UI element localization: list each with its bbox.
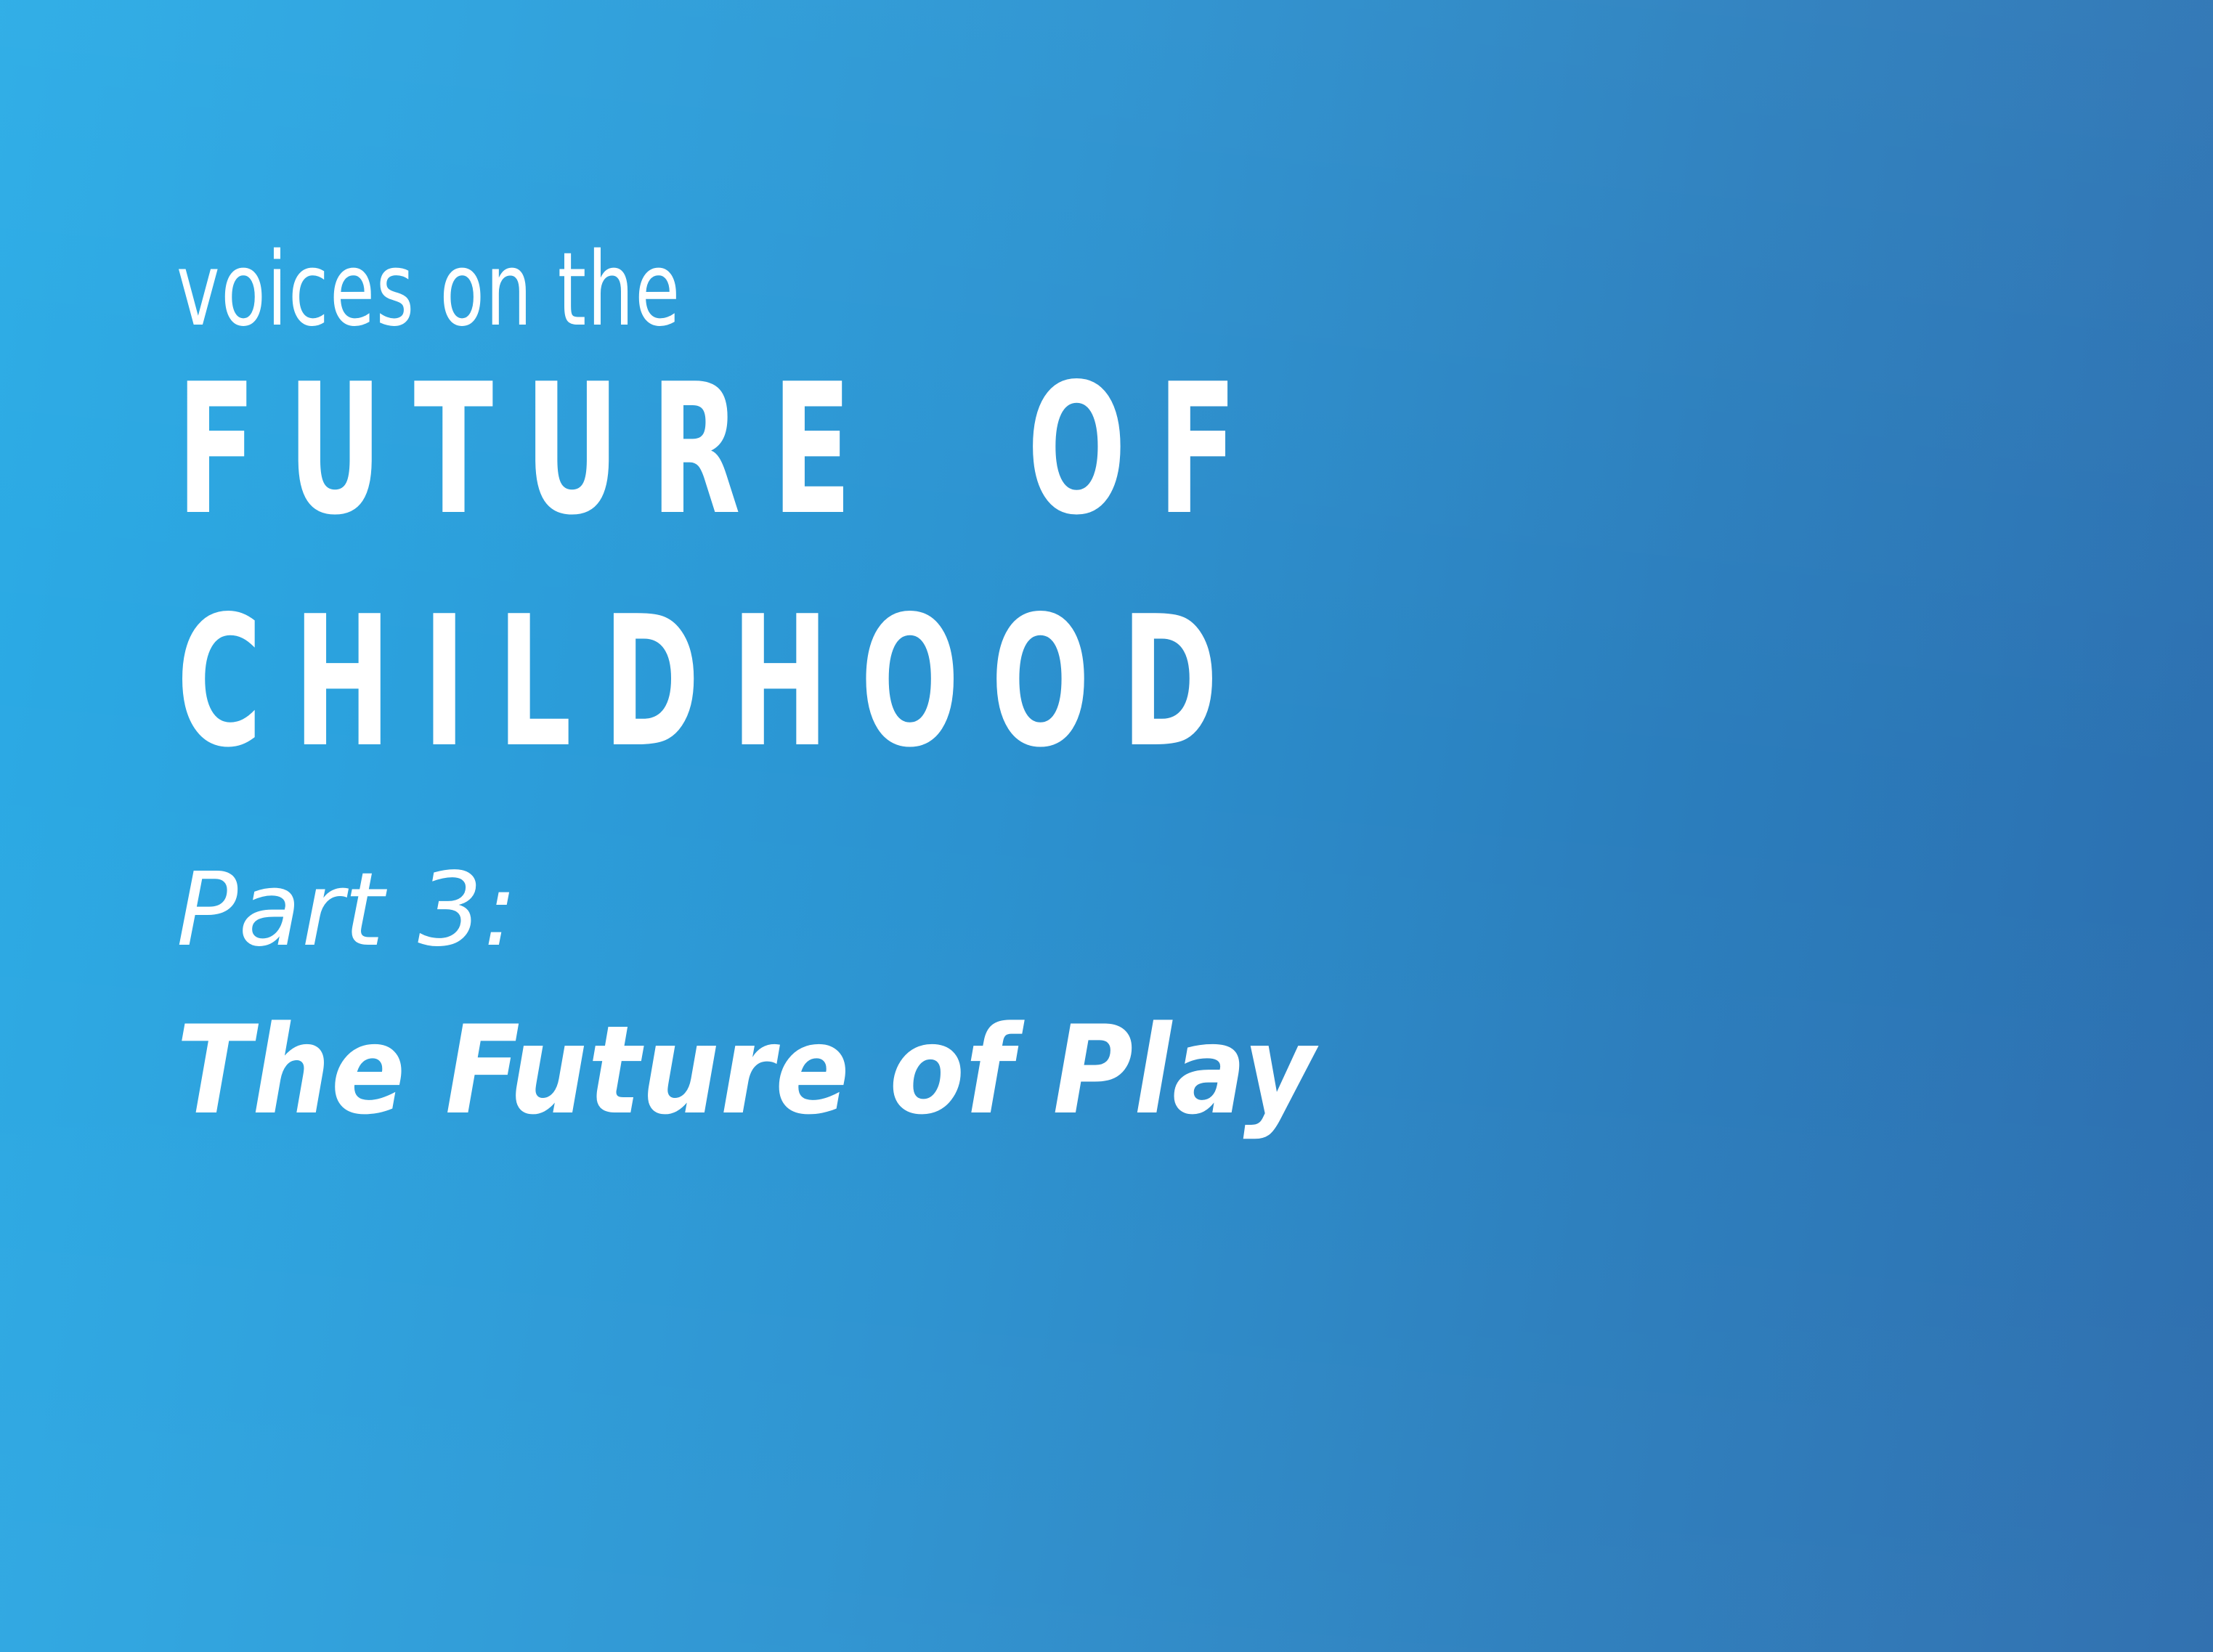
part-number-label: Part 3: bbox=[176, 860, 1920, 961]
headline-line-childhood: CHILDHOOD bbox=[176, 593, 1432, 773]
part-title: The Future of Play bbox=[176, 1009, 1920, 1131]
eyebrow-text: voices on the bbox=[176, 240, 1571, 341]
subtitle-group: Part 3: The Future of Play bbox=[176, 860, 1920, 1131]
title-slide: voices on the FUTURE OF CHILDHOOD Part 3… bbox=[0, 0, 2213, 1652]
headline-line-future-of: FUTURE OF bbox=[176, 360, 1432, 540]
title-block: voices on the FUTURE OF CHILDHOOD Part 3… bbox=[176, 240, 1920, 1131]
